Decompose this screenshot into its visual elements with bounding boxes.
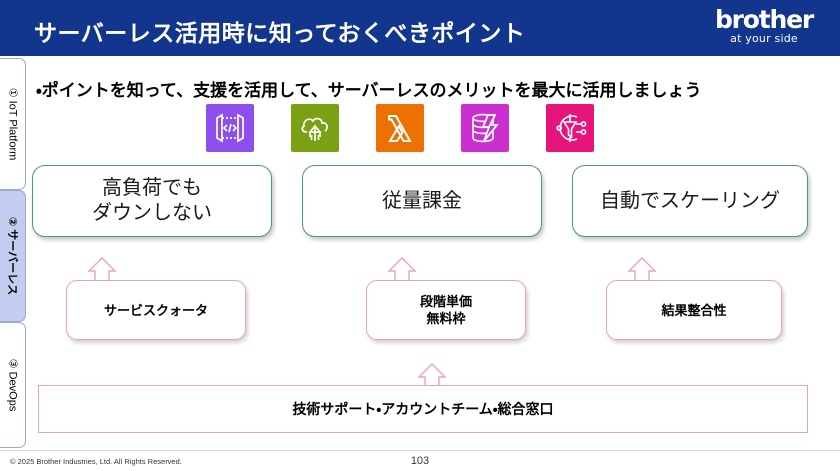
sidebar-item-label: ① IoT Platform <box>6 88 19 161</box>
slide: サーバーレス活用時に知っておくべきポイント brother at your si… <box>0 0 840 471</box>
brother-logo: brother at your side <box>704 7 824 49</box>
benefit-box-label: 自動でスケーリング <box>600 189 780 214</box>
benefit-box-auto-scaling: 自動でスケーリング <box>572 165 808 237</box>
caution-box-tiered-pricing: 段階単価 無料枠 <box>366 280 526 340</box>
slide-header: サーバーレス活用時に知っておくべきポイント brother at your si… <box>0 0 840 56</box>
up-arrow-icon <box>622 256 662 282</box>
page-number: 103 <box>0 455 840 467</box>
up-arrow-icon <box>382 256 422 282</box>
benefit-box-high-load: 高負荷でも ダウンしない <box>32 165 272 237</box>
up-arrow-icon <box>82 256 122 282</box>
caution-box-label: サービスクォータ <box>104 302 208 319</box>
brother-logo-tagline: at your side <box>704 33 824 45</box>
cloud-map-icon <box>291 104 339 152</box>
sidebar-item-iot-platform[interactable]: ① IoT Platform <box>0 58 26 190</box>
footer-divider <box>0 450 840 451</box>
dynamodb-icon <box>461 104 509 152</box>
sidebar-item-label: ③ DevOps <box>6 359 19 412</box>
benefit-box-label: 高負荷でも ダウンしない <box>92 176 212 226</box>
lambda-icon <box>376 104 424 152</box>
eventbridge-icon <box>546 104 594 152</box>
section-tabs: ① IoT Platform ② サーバーレス ③ DevOps <box>0 58 26 448</box>
support-bar-label: 技術サポート・アカウントチーム・総合窓口 <box>292 399 553 419</box>
caution-box-label: 段階単価 無料枠 <box>420 293 472 327</box>
caution-box-label: 結果整合性 <box>661 302 726 319</box>
page-title: サーバーレス活用時に知っておくべきポイント <box>34 14 525 48</box>
benefit-box-pay-per-use: 従量課金 <box>302 165 542 237</box>
benefit-box-label: 従量課金 <box>382 189 462 214</box>
bullet-text: ・ポイントを知って、支援を活用して、サーバーレスのメリットを最大に活用しましょう <box>36 76 702 101</box>
service-icon-row <box>206 104 626 154</box>
sidebar-item-devops[interactable]: ③ DevOps <box>0 322 26 448</box>
brother-logo-wordmark: brother <box>704 7 824 33</box>
api-gateway-icon <box>206 104 254 152</box>
caution-box-eventual-consistency: 結果整合性 <box>606 280 782 340</box>
support-bar: 技術サポート・アカウントチーム・総合窓口 <box>38 385 808 433</box>
sidebar-item-label: ② サーバーレス <box>5 217 21 295</box>
sidebar-item-serverless[interactable]: ② サーバーレス <box>0 190 26 322</box>
caution-box-service-quota: サービスクォータ <box>66 280 246 340</box>
